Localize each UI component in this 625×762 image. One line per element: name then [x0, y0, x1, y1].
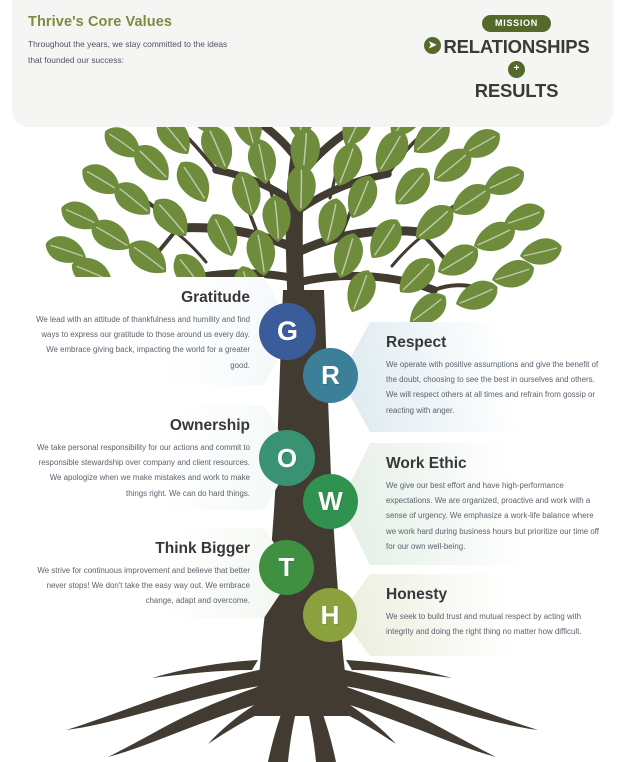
mission-badge: MISSION	[482, 15, 551, 32]
value-body-gratitude: We lead with an attitude of thankfulness…	[30, 312, 250, 373]
letter-badge-g: G	[259, 303, 316, 360]
header-subtitle: Throughout the years, we stay committed …	[28, 37, 228, 68]
value-card-ownership: Ownership We take personal responsibilit…	[14, 405, 294, 510]
value-body-respect: We operate with positive assumptions and…	[386, 357, 605, 418]
letter-badge-w: W	[303, 474, 358, 529]
value-card-work-ethic: Work Ethic We give our best effort and h…	[340, 443, 621, 565]
value-title-work-ethic: Work Ethic	[386, 455, 605, 473]
letter-badge-t: T	[259, 540, 314, 595]
value-card-think-bigger: Think Bigger We strive for continuous im…	[14, 528, 294, 618]
letter-badge-h: H	[303, 588, 357, 642]
letter-badge-r: R	[303, 348, 358, 403]
value-body-honesty: We seek to build trust and mutual respec…	[386, 609, 605, 639]
mission-block: MISSION RELATIONSHIPS + RESULTS	[424, 13, 609, 102]
mission-relationships: RELATIONSHIPS	[424, 36, 609, 58]
value-title-honesty: Honesty	[386, 586, 605, 604]
value-title-respect: Respect	[386, 334, 605, 352]
value-title-think-bigger: Think Bigger	[30, 540, 250, 558]
mission-results: RESULTS	[424, 80, 609, 102]
value-title-gratitude: Gratitude	[30, 289, 250, 307]
plus-icon: +	[508, 61, 525, 78]
page-title: Thrive's Core Values	[28, 14, 172, 30]
letter-badge-o: O	[259, 430, 315, 486]
value-body-work-ethic: We give our best effort and have high-pe…	[386, 478, 605, 554]
value-card-respect: Respect We operate with positive assumpt…	[340, 322, 621, 432]
infographic-canvas: Thrive's Core Values Throughout the year…	[0, 0, 625, 762]
header-panel: Thrive's Core Values Throughout the year…	[12, 0, 613, 127]
value-body-ownership: We take personal responsibility for our …	[30, 440, 250, 501]
value-card-honesty: Honesty We seek to build trust and mutua…	[340, 574, 621, 656]
value-body-think-bigger: We strive for continuous improvement and…	[30, 563, 250, 609]
value-title-ownership: Ownership	[30, 417, 250, 435]
tree-roots	[66, 640, 538, 762]
value-card-gratitude: Gratitude We lead with an attitude of th…	[14, 277, 294, 385]
